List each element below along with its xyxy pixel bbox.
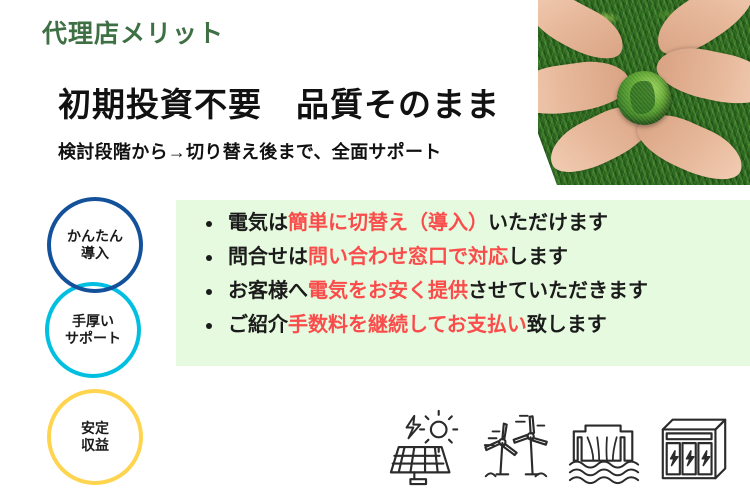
benefits-panel: 電気は簡単に切替え（導入）いただけます 問合せは問い合わせ窓口で対応します お客… [176, 200, 750, 366]
circle-easy-line2: 導入 [81, 245, 109, 263]
circle-easy-introduction: かんたん 導入 [47, 197, 143, 293]
benefit-4-post: 致します [527, 314, 607, 336]
benefit-2-highlight: 問い合わせ窓口で対応 [308, 246, 508, 268]
slide-canvas: 代理店メリット 初期投資不要 品質そのまま 検討段階から→切り替え後まで、全面サ… [0, 0, 750, 500]
circle-stable-revenue: 安定 収益 [47, 389, 143, 485]
circle-profit-line2: 収益 [81, 437, 109, 455]
benefit-3-highlight: 電気をお安く提供 [308, 280, 468, 302]
circle-support-line2: サポート [65, 330, 121, 348]
benefit-4-highlight: 手数料を継続してお支払い [288, 314, 527, 336]
battery-storage-icon [655, 407, 733, 489]
benefit-1-post: いただけます [488, 212, 608, 234]
benefit-3-pre: お客様へ [228, 280, 308, 302]
headline-text: 初期投資不要 品質そのまま [58, 78, 500, 126]
circle-profit-line1: 安定 [81, 420, 109, 438]
circle-easy-line1: かんたん [67, 228, 123, 246]
benefit-4-pre: ご紹介 [228, 314, 288, 336]
benefit-1-highlight: 簡単に切替え（導入） [288, 212, 488, 234]
benefit-2-pre: 問合せは [228, 246, 308, 268]
list-item: お客様へ電気をお安く提供させていただきます [204, 281, 750, 301]
page-title: 代理店メリット [42, 14, 224, 50]
circle-generous-support: 手厚い サポート [45, 282, 141, 378]
circle-support-line1: 手厚い [72, 313, 114, 331]
energy-icon-strip [388, 404, 733, 492]
benefits-list: 電気は簡単に切替え（導入）いただけます 問合せは問い合わせ窓口で対応します お客… [176, 200, 750, 335]
benefit-3-post: させていただきます [468, 280, 648, 302]
solar-panel-icon [388, 407, 466, 489]
list-item: 問合せは問い合わせ窓口で対応します [204, 247, 750, 267]
wind-turbine-icon [477, 407, 555, 489]
green-earth-globe [617, 71, 671, 125]
subheadline-text: 検討段階から→切り替え後まで、全面サポート [58, 138, 442, 164]
hydro-dam-icon [566, 407, 644, 489]
list-item: 電気は簡単に切替え（導入）いただけます [204, 213, 750, 233]
hands-globe-photo [538, 0, 750, 185]
benefit-2-post: します [508, 246, 568, 268]
list-item: ご紹介手数料を継続してお支払い致します [204, 315, 750, 335]
benefit-1-pre: 電気は [228, 212, 288, 234]
